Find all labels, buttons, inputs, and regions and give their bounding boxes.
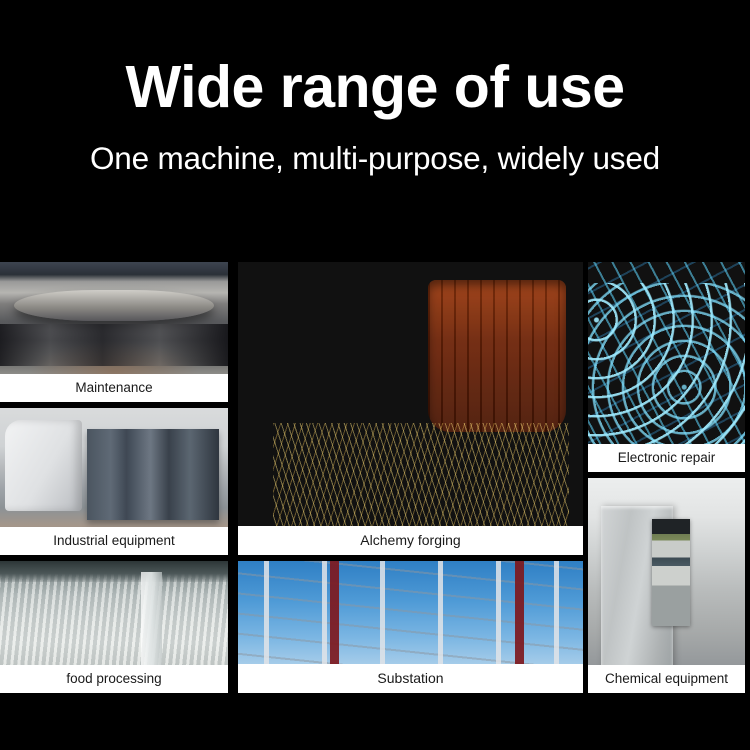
gallery-tile-substation[interactable]: Substation xyxy=(238,561,583,693)
gallery-tile-electronic-repair[interactable]: Electronic repair xyxy=(588,262,745,472)
tile-caption: Electronic repair xyxy=(588,444,745,472)
tile-caption: Chemical equipment xyxy=(588,665,745,693)
tile-caption: Substation xyxy=(238,664,583,693)
page-title: Wide range of use xyxy=(0,57,750,119)
tile-caption: Industrial equipment xyxy=(0,527,228,555)
tile-caption: Maintenance xyxy=(0,374,228,402)
banner-header: Wide range of use One machine, multi-pur… xyxy=(0,0,750,175)
molten-steel-ladle-photo xyxy=(238,262,583,555)
tile-caption: Alchemy forging xyxy=(238,526,583,555)
stainless-steel-control-cabinet-photo xyxy=(588,478,745,693)
tile-caption: food processing xyxy=(0,665,228,693)
application-gallery-grid: Maintenance Industrial equipment food pr… xyxy=(0,262,750,692)
gallery-tile-chemical-equipment[interactable]: Chemical equipment xyxy=(588,478,745,693)
gallery-tile-maintenance[interactable]: Maintenance xyxy=(0,262,228,402)
gallery-tile-industrial-equipment[interactable]: Industrial equipment xyxy=(0,408,228,555)
gallery-tile-alchemy-forging[interactable]: Alchemy forging xyxy=(238,262,583,555)
blue-circuit-board-photo xyxy=(588,262,745,472)
page-subtitle: One machine, multi-purpose, widely used xyxy=(0,142,750,175)
gallery-tile-food-processing[interactable]: food processing xyxy=(0,561,228,693)
